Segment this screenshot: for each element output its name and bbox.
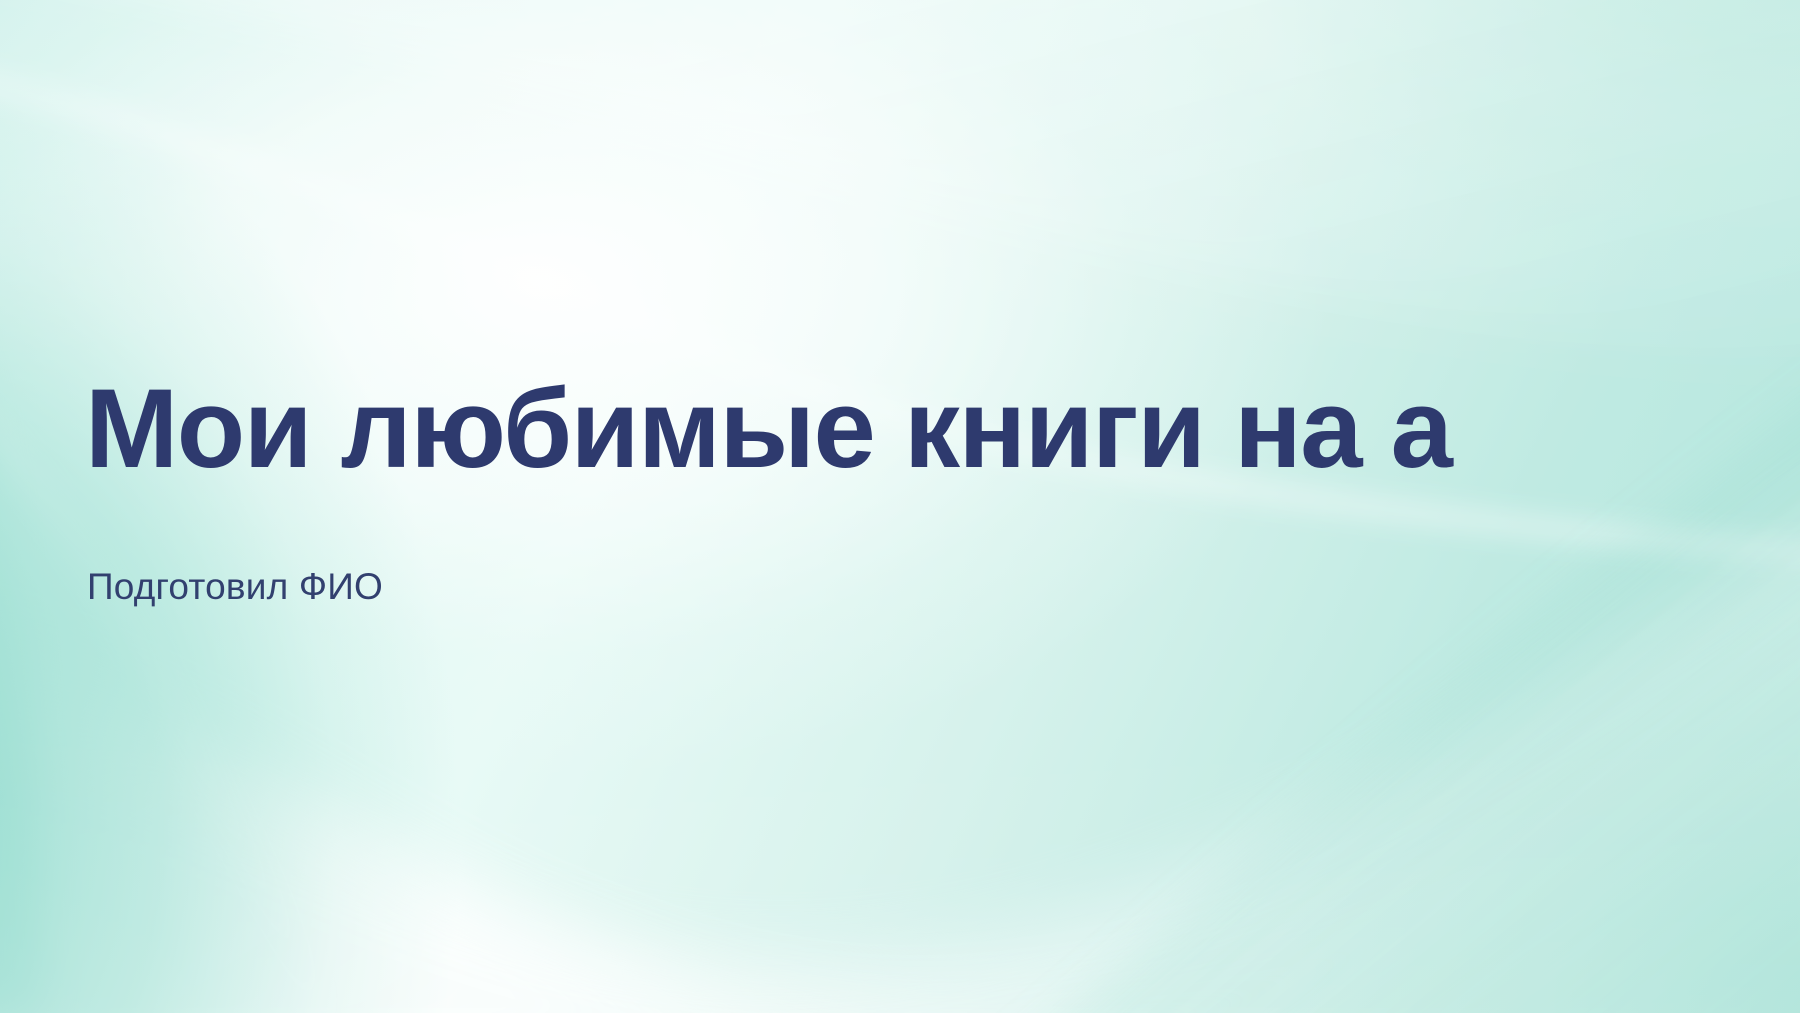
slide-subtitle: Подготовил ФИО [87, 564, 383, 610]
slide-content: Мои любимые книги на а Подготовил ФИО [0, 0, 1800, 1013]
title-slide: Мои любимые книги на а Подготовил ФИО [0, 0, 1800, 1013]
slide-title: Мои любимые книги на а [85, 373, 1451, 485]
